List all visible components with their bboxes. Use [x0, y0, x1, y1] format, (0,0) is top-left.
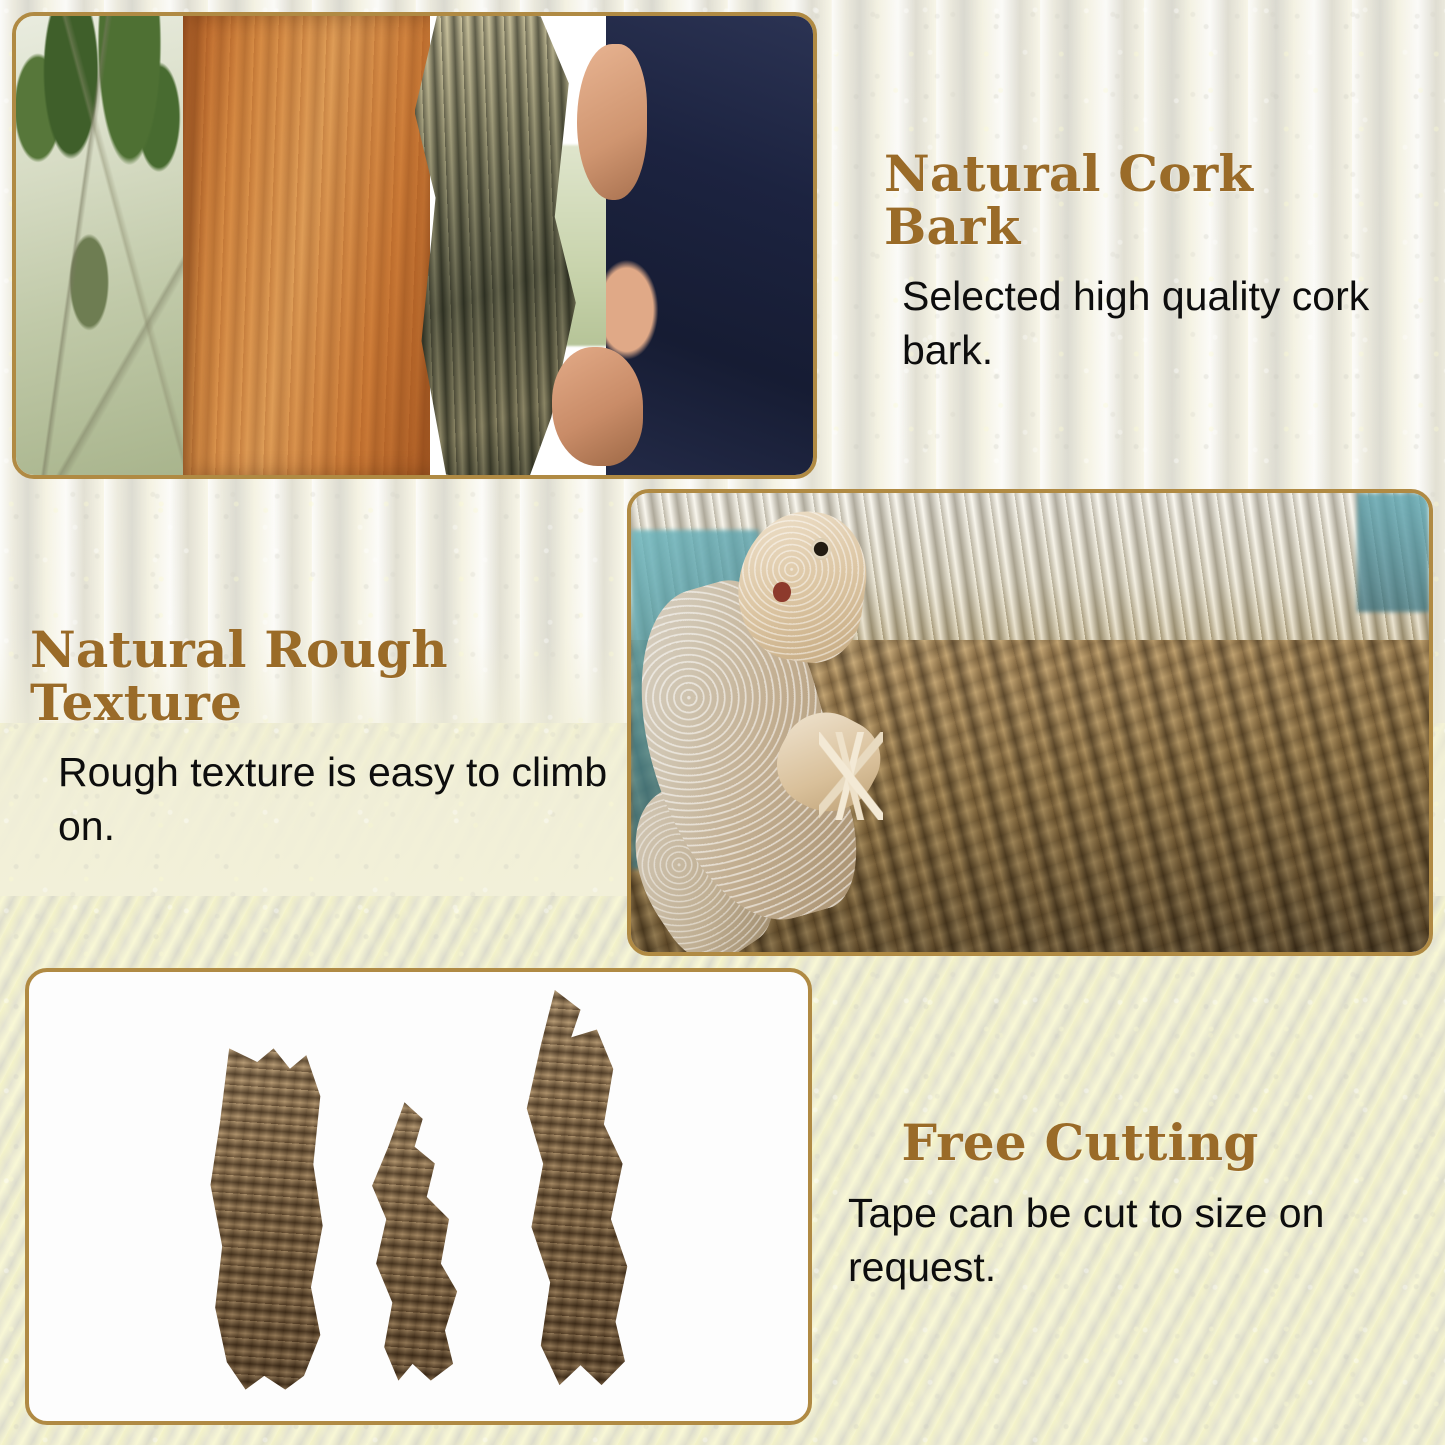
product-infographic: Natural Cork Bark Selected high quality …: [0, 0, 1445, 1445]
feature-text-natural-rough-texture: Natural Rough Texture Rough texture is e…: [30, 624, 610, 853]
feature-heading-natural-rough-texture: Natural Rough Texture: [30, 624, 610, 729]
dragon-eye-shape: [811, 538, 831, 560]
bark-piece-right: [520, 990, 637, 1385]
bark-piece-left: [208, 1048, 325, 1389]
bark-piece-middle: [364, 1102, 465, 1380]
image-panel-cork-harvest: [12, 12, 817, 479]
image-panel-bearded-dragon: [627, 489, 1433, 956]
feature-heading-free-cutting: Free Cutting: [848, 1117, 1408, 1170]
dragon-claw-shape: [819, 732, 882, 820]
worker-shape: [606, 16, 813, 475]
teal-background-right-shape: [1357, 493, 1429, 612]
stripped-trunk-shape: [183, 16, 430, 475]
image-panel-bark-pieces: [25, 968, 812, 1425]
forest-foliage-shape: [16, 16, 199, 475]
bearded-dragon-shape: [647, 511, 934, 952]
feature-text-free-cutting: Free Cutting Tape can be cut to size on …: [848, 1117, 1408, 1294]
feature-description-natural-cork-bark: Selected high quality cork bark.: [884, 269, 1404, 377]
feature-text-natural-cork-bark: Natural Cork Bark Selected high quality …: [884, 148, 1404, 377]
feature-description-free-cutting: Tape can be cut to size on request.: [848, 1186, 1408, 1294]
feature-description-natural-rough-texture: Rough texture is easy to climb on.: [30, 745, 610, 853]
feature-heading-natural-cork-bark: Natural Cork Bark: [884, 148, 1404, 253]
dragon-ear-shape: [773, 582, 790, 602]
